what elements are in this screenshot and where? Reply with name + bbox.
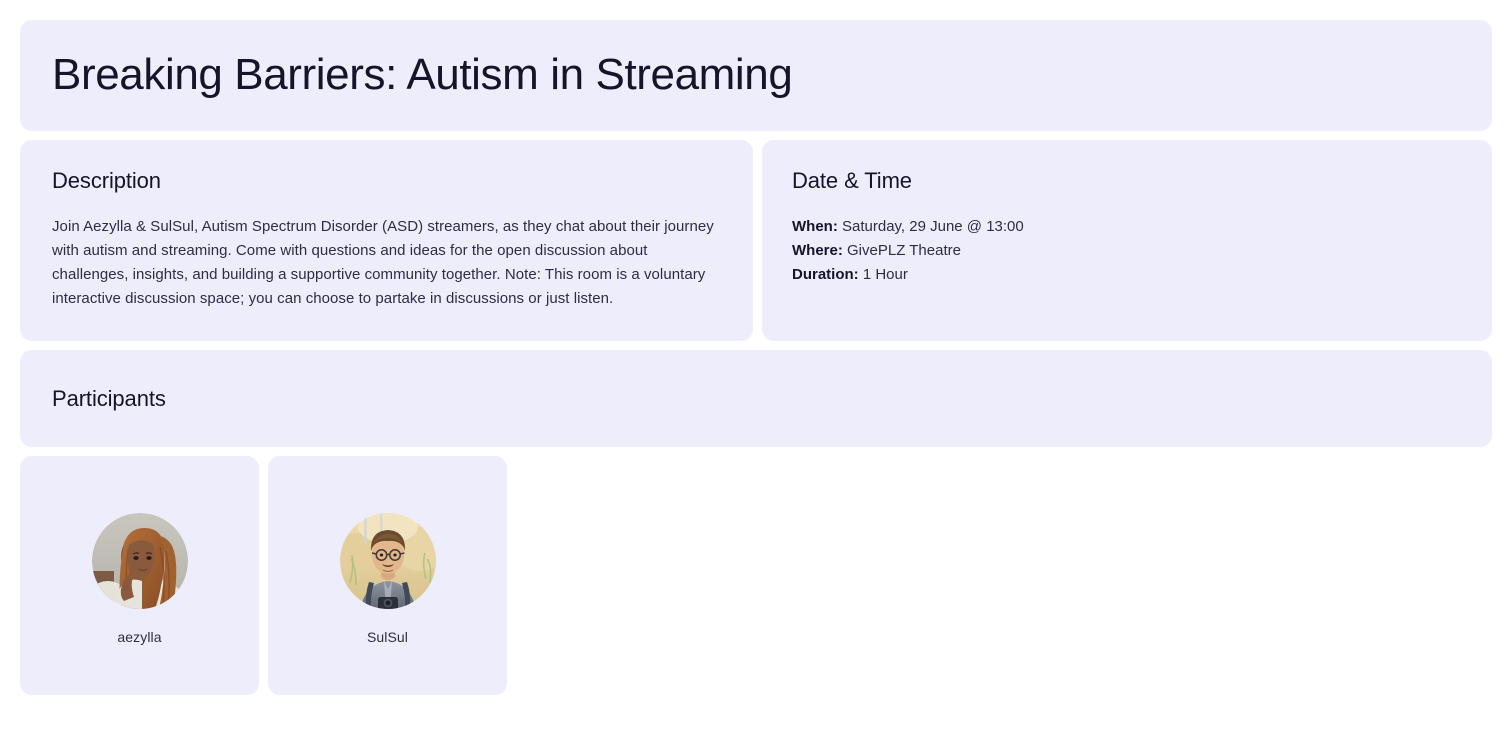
event-detail-page: Breaking Barriers: Autism in Streaming D… — [0, 0, 1512, 747]
participant-name: SulSul — [367, 629, 408, 645]
participant-name: aezylla — [117, 629, 161, 645]
where-value: GivePLZ Theatre — [847, 242, 961, 259]
description-heading: Description — [52, 168, 721, 194]
meta-row-when: When: Saturday, 29 June @ 13:00 — [792, 215, 1460, 239]
when-label: When: — [792, 218, 838, 235]
description-body-text: Join Aezylla & SulSul, Autism Spectrum D… — [52, 215, 721, 311]
where-label: Where: — [792, 242, 843, 259]
date-time-list: When: Saturday, 29 June @ 13:00 Where: G… — [792, 215, 1460, 287]
meta-row-where: Where: GivePLZ Theatre — [792, 239, 1460, 263]
description-panel: Description Join Aezylla & SulSul, Autis… — [20, 140, 753, 341]
participants-header-panel: Participants — [20, 350, 1492, 447]
page-title: Breaking Barriers: Autism in Streaming — [52, 51, 792, 99]
participant-card-sulsul[interactable]: SulSul — [268, 456, 507, 695]
duration-label: Duration: — [792, 266, 859, 283]
participant-card-aezylla[interactable]: aezylla — [20, 456, 259, 695]
duration-value: 1 Hour — [863, 266, 908, 283]
date-time-panel: Date & Time When: Saturday, 29 June @ 13… — [762, 140, 1492, 341]
participants-heading: Participants — [52, 386, 166, 412]
meta-row-duration: Duration: 1 Hour — [792, 263, 1460, 287]
event-header-panel: Breaking Barriers: Autism in Streaming — [20, 20, 1492, 131]
date-time-heading: Date & Time — [792, 168, 1460, 194]
avatar — [92, 513, 188, 609]
event-info-row: Description Join Aezylla & SulSul, Autis… — [20, 140, 1492, 341]
avatar — [340, 513, 436, 609]
participant-card-list: aezylla — [20, 456, 1492, 695]
when-value: Saturday, 29 June @ 13:00 — [842, 218, 1024, 235]
